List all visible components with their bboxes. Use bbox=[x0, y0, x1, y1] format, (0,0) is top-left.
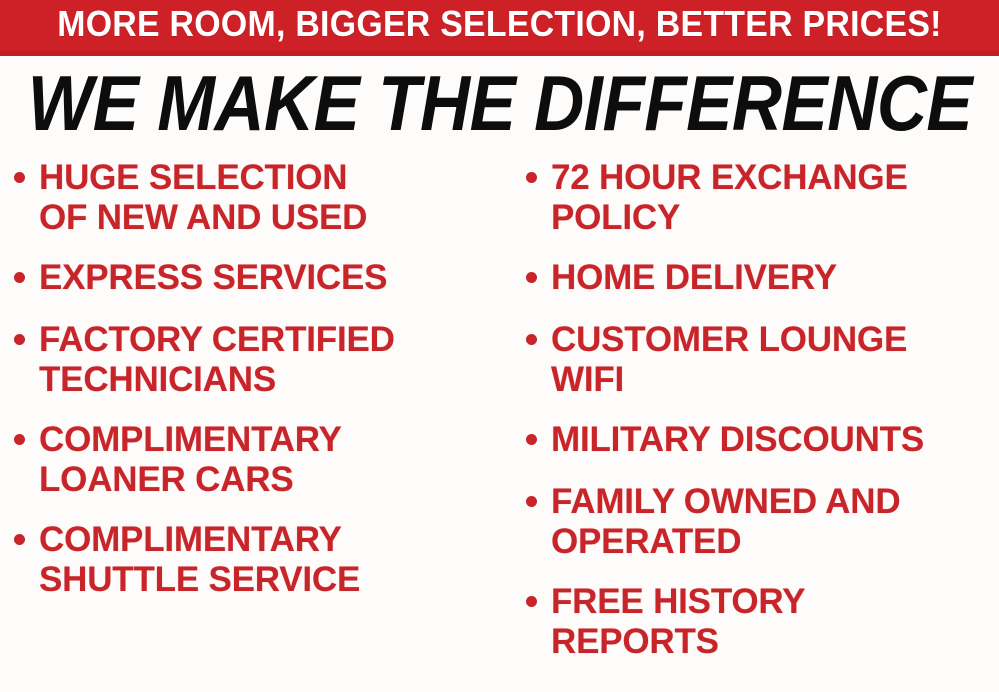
list-item-label: COMPLIMENTARY SHUTTLE SERVICE bbox=[39, 520, 508, 600]
list-item: EXPRESS SERVICES bbox=[14, 258, 508, 298]
list-item: COMPLIMENTARY LOANER CARS bbox=[14, 420, 508, 500]
list-item-label: EXPRESS SERVICES bbox=[39, 258, 508, 298]
bullet-dot-icon bbox=[14, 434, 25, 445]
top-promo-banner: MORE ROOM, BIGGER SELECTION, BETTER PRIC… bbox=[0, 0, 999, 56]
list-item: COMPLIMENTARY SHUTTLE SERVICE bbox=[14, 520, 508, 600]
features-columns: HUGE SELECTION OF NEW AND USED EXPRESS S… bbox=[0, 158, 999, 692]
promo-banner-text: MORE ROOM, BIGGER SELECTION, BETTER PRIC… bbox=[57, 6, 942, 42]
bullet-dot-icon bbox=[14, 272, 25, 283]
list-item: HUGE SELECTION OF NEW AND USED bbox=[14, 158, 508, 238]
bullet-dot-icon bbox=[526, 334, 537, 345]
list-item-label: FAMILY OWNED AND OPERATED bbox=[551, 482, 999, 562]
list-item-label: CUSTOMER LOUNGE WIFI bbox=[551, 320, 999, 400]
list-item: CUSTOMER LOUNGE WIFI bbox=[526, 320, 999, 400]
list-item: FREE HISTORY REPORTS bbox=[526, 582, 999, 662]
list-item: 72 HOUR EXCHANGE POLICY bbox=[526, 158, 999, 238]
bullet-dot-icon bbox=[14, 334, 25, 345]
list-item-label: FREE HISTORY REPORTS bbox=[551, 582, 999, 662]
bullet-dot-icon bbox=[526, 596, 537, 607]
list-item-label: 72 HOUR EXCHANGE POLICY bbox=[551, 158, 999, 238]
list-item-label: HUGE SELECTION OF NEW AND USED bbox=[39, 158, 508, 238]
bullet-dot-icon bbox=[14, 172, 25, 183]
list-item-label: MILITARY DISCOUNTS bbox=[551, 420, 999, 460]
list-item-label: FACTORY CERTIFIED TECHNICIANS bbox=[39, 320, 508, 400]
advertisement-banner: MORE ROOM, BIGGER SELECTION, BETTER PRIC… bbox=[0, 0, 999, 692]
bullet-dot-icon bbox=[526, 434, 537, 445]
bullet-dot-icon bbox=[526, 496, 537, 507]
list-item: HOME DELIVERY bbox=[526, 258, 999, 298]
list-item-label: HOME DELIVERY bbox=[551, 258, 999, 298]
headline-container: WE MAKE THE DIFFERENCE bbox=[0, 62, 999, 146]
page-title: WE MAKE THE DIFFERENCE bbox=[27, 64, 971, 144]
features-column-right: 72 HOUR EXCHANGE POLICY HOME DELIVERY CU… bbox=[508, 158, 999, 682]
list-item-label: COMPLIMENTARY LOANER CARS bbox=[39, 420, 508, 500]
bullet-dot-icon bbox=[14, 534, 25, 545]
bullet-dot-icon bbox=[526, 172, 537, 183]
bullet-dot-icon bbox=[526, 272, 537, 283]
list-item: FAMILY OWNED AND OPERATED bbox=[526, 482, 999, 562]
list-item: FACTORY CERTIFIED TECHNICIANS bbox=[14, 320, 508, 400]
list-item: MILITARY DISCOUNTS bbox=[526, 420, 999, 460]
features-column-left: HUGE SELECTION OF NEW AND USED EXPRESS S… bbox=[0, 158, 508, 620]
